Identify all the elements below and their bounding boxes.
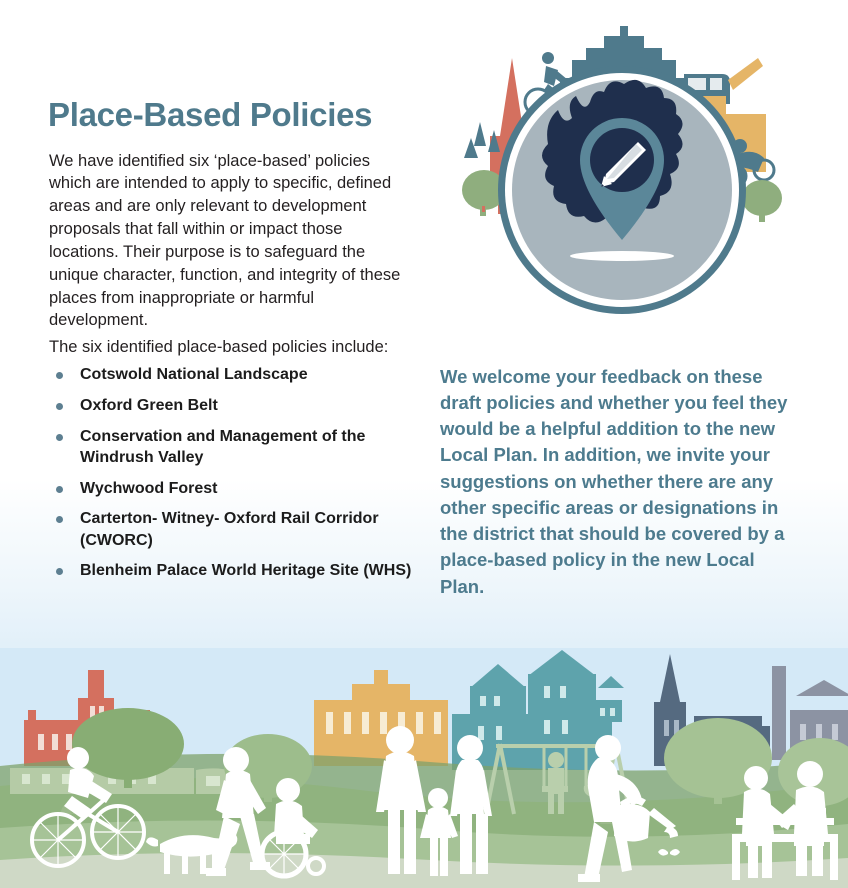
- feedback-callout: We welcome your feedback on these draft …: [440, 364, 798, 600]
- list-item: Conservation and Management of the Windr…: [49, 426, 429, 469]
- list-item: Oxford Green Belt: [49, 395, 429, 416]
- policy-list: Cotswold National Landscape Oxford Green…: [49, 364, 429, 591]
- list-item: Blenheim Palace World Heritage Site (WHS…: [49, 560, 429, 581]
- intro-paragraph: We have identified six ‘place-based’ pol…: [49, 150, 411, 333]
- list-item: Wychwood Forest: [49, 478, 429, 499]
- community-landscape-illustration: [0, 648, 848, 888]
- list-item: Carterton- Witney- Oxford Rail Corridor …: [49, 508, 429, 551]
- list-item: Cotswold National Landscape: [49, 364, 429, 385]
- grey-chimney: [772, 666, 786, 760]
- page-title: Place-Based Policies: [48, 98, 372, 131]
- district-consultation-logo: [452, 18, 792, 338]
- list-lead-text: The six identified place-based policies …: [49, 338, 449, 357]
- tree-icon: [742, 180, 782, 222]
- poster-root: Place-Based Policies We have identified …: [0, 0, 848, 888]
